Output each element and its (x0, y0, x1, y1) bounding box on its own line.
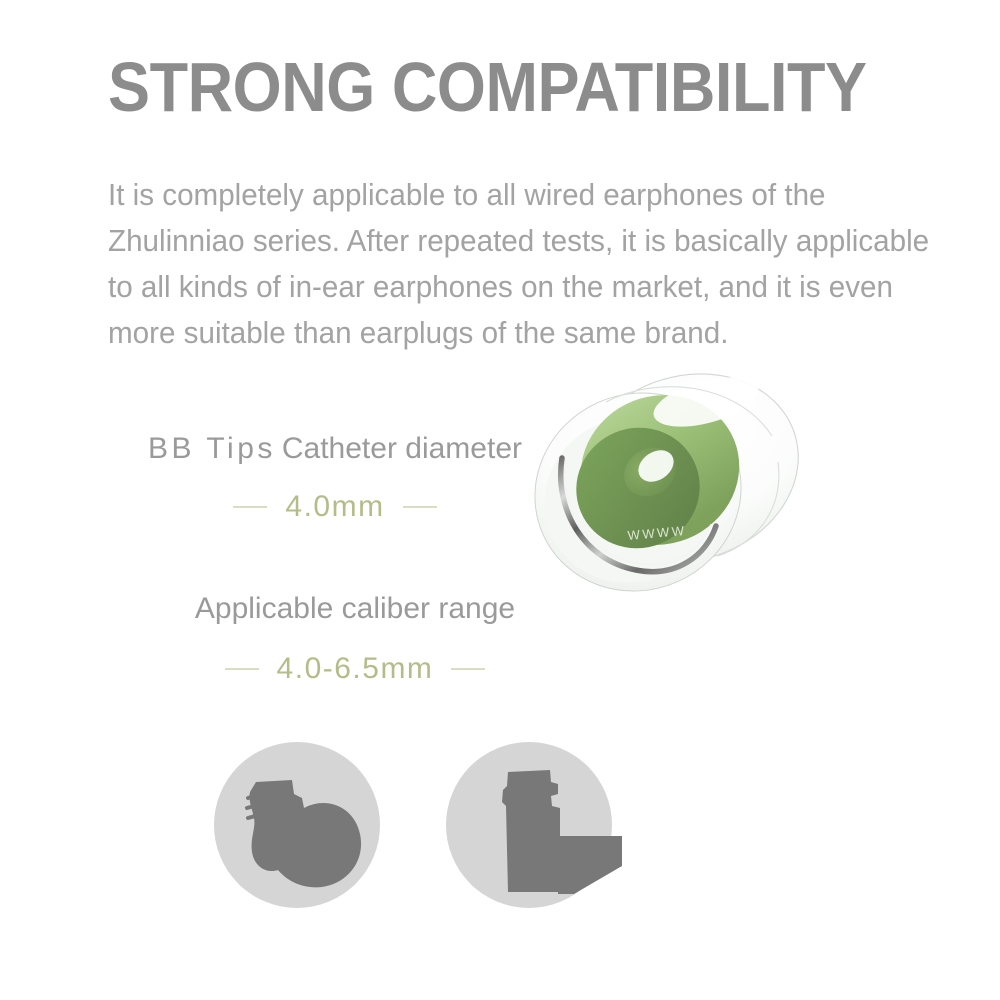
dash-left-icon (233, 506, 267, 508)
spec-catheter-title: Catheter diameter (282, 432, 522, 465)
nozzle-barrel-shape (502, 770, 560, 892)
spec-caliber-value-row: 4.0-6.5mm (160, 652, 550, 686)
earphone-nozzle-icon (446, 742, 612, 908)
spec-catheter-tag: BB Tips (148, 432, 276, 465)
eartip-profile-icon (214, 742, 380, 908)
product-feature-slide: STRONG COMPATIBILITY It is completely ap… (0, 0, 1000, 1000)
intro-paragraph: It is completely applicable to all wired… (108, 172, 958, 356)
spec-caliber-label: Applicable caliber range (160, 592, 550, 626)
dash-left-icon (225, 668, 259, 670)
spec-caliber-range: Applicable caliber range 4.0-6.5mm (160, 592, 550, 686)
spec-catheter-diameter: BB TipsCatheter diameter 4.0mm (120, 432, 550, 524)
product-photo-eartip: WWWW (510, 350, 810, 620)
spec-caliber-value: 4.0-6.5mm (277, 652, 434, 686)
nozzle-housing-shape (558, 836, 622, 894)
spec-catheter-label: BB TipsCatheter diameter (120, 432, 550, 466)
spec-catheter-value-row: 4.0mm (120, 490, 550, 524)
page-title: STRONG COMPATIBILITY (108, 48, 882, 126)
spec-catheter-value: 4.0mm (285, 490, 384, 524)
dash-right-icon (451, 668, 485, 670)
dash-right-icon (403, 506, 437, 508)
